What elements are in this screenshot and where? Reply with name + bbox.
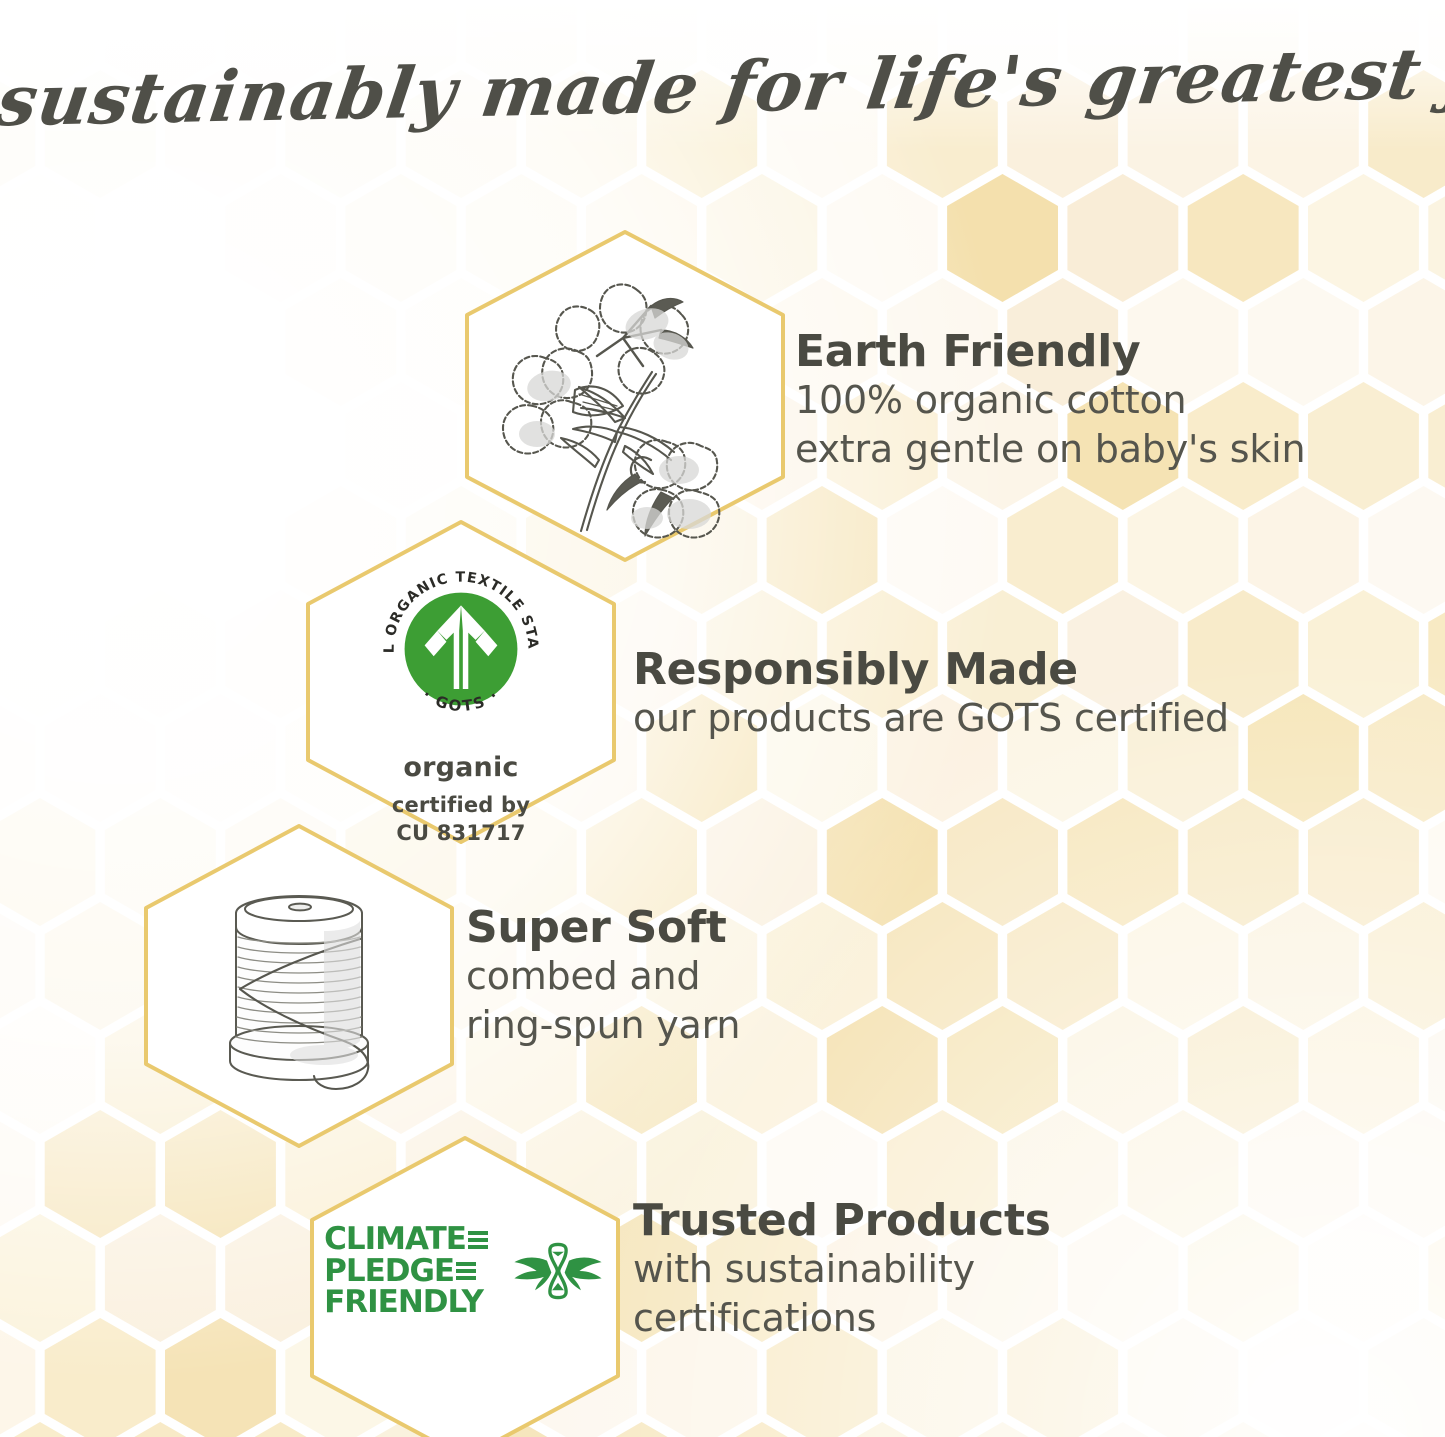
page-title: sustainably made for life's greatest joy… (0, 29, 1445, 143)
cpf-line-2: PLEDGE (324, 1256, 454, 1288)
feature-hexagon-super-soft[interactable] (134, 820, 464, 1152)
feature-text-earth-friendly: Earth Friendly 100% organic cotton extra… (795, 327, 1305, 473)
cotton-icon-wrapper (455, 226, 795, 566)
feature-text-trusted-products: Trusted Products with sustainability cer… (633, 1196, 1051, 1342)
cpf-bars-1 (468, 1231, 488, 1249)
feature-text-super-soft: Super Soft combed and ring-spun yarn (466, 903, 740, 1049)
headline-text: sustainably made for life's greatest joy (0, 29, 1445, 142)
cpf-line-3: FRIENDLY (324, 1287, 483, 1319)
headline-container: sustainably made for life's greatest joy… (0, 44, 1445, 127)
feature-line-1-responsibly-made: our products are GOTS certified (633, 694, 1229, 742)
feature-hexagon-earth-friendly[interactable] (455, 226, 795, 566)
cpf-line-1: CLIMATE (324, 1224, 466, 1256)
feature-hexagon-trusted-products[interactable]: CLIMATE PLEDGE FRIENDLY (300, 1132, 630, 1437)
climate-pledge-wrapper: CLIMATE PLEDGE FRIENDLY (300, 1132, 630, 1437)
feature-line-2-earth-friendly: extra gentle on baby's skin (795, 425, 1305, 473)
thread-spool-sketch-icon (174, 861, 424, 1111)
cpf-bars-2 (456, 1262, 476, 1280)
infographic-canvas: sustainably made for life's greatest joy… (0, 0, 1445, 1437)
feature-text-responsibly-made: Responsibly Made our products are GOTS c… (633, 645, 1229, 743)
spool-icon-wrapper (134, 820, 464, 1152)
feature-title-responsibly-made: Responsibly Made (633, 645, 1229, 694)
feature-line-1-trusted-products: with sustainability (633, 1245, 1051, 1293)
gots-badge: GLOBAL ORGANIC TEXTILE STANDARD · GOTS ·… (296, 554, 626, 846)
feature-title-super-soft: Super Soft (466, 903, 740, 952)
feature-line-2-super-soft: ring-spun yarn (466, 1001, 740, 1049)
climate-pledge-friendly-icon: CLIMATE PLEDGE FRIENDLY (324, 1224, 606, 1319)
gots-certification-icon: GLOBAL ORGANIC TEXTILE STANDARD · GOTS · (370, 558, 552, 740)
feature-line-2-trusted-products: certifications (633, 1294, 1051, 1342)
cpf-wordmark: CLIMATE PLEDGE FRIENDLY (324, 1224, 488, 1319)
feature-hexagon-responsibly-made[interactable]: GLOBAL ORGANIC TEXTILE STANDARD · GOTS ·… (296, 516, 626, 848)
winged-hourglass-icon (510, 1234, 606, 1308)
feature-line-1-super-soft: combed and (466, 952, 740, 1000)
feature-line-1-earth-friendly: 100% organic cotton (795, 376, 1305, 424)
feature-title-earth-friendly: Earth Friendly (795, 327, 1305, 376)
gots-certified-by: certified by (392, 793, 530, 819)
gots-badge-wrapper: GLOBAL ORGANIC TEXTILE STANDARD · GOTS ·… (296, 516, 626, 848)
gots-organic-label: organic (403, 752, 518, 783)
feature-title-trusted-products: Trusted Products (633, 1196, 1051, 1245)
cotton-branch-sketch-icon (475, 246, 775, 546)
